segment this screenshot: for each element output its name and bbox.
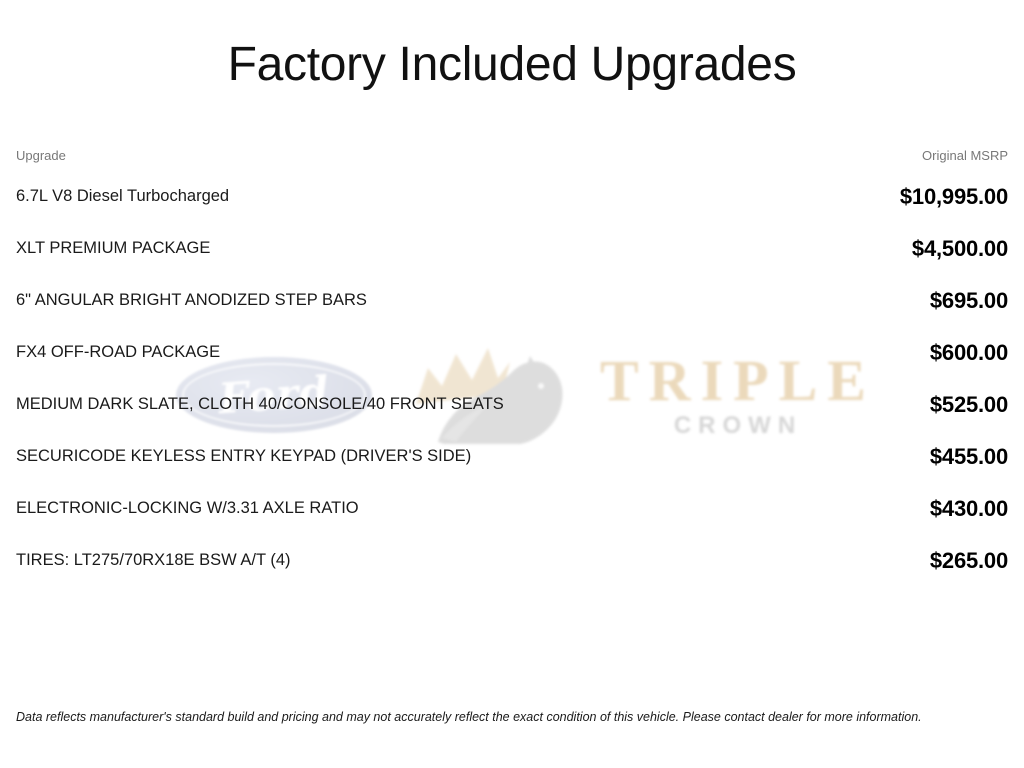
content-area: Factory Included Upgrades Upgrade Origin… (16, 0, 1008, 587)
table-row: ELECTRONIC-LOCKING W/3.31 AXLE RATIO $43… (16, 483, 1008, 535)
upgrade-price: $430.00 (631, 483, 1008, 535)
upgrade-price: $4,500.00 (631, 223, 1008, 275)
table-header: Upgrade Original MSRP (16, 148, 1008, 171)
table-row: FX4 OFF-ROAD PACKAGE $600.00 (16, 327, 1008, 379)
table-row: XLT PREMIUM PACKAGE $4,500.00 (16, 223, 1008, 275)
upgrade-name: 6.7L V8 Diesel Turbocharged (16, 171, 631, 223)
upgrade-name: SECURICODE KEYLESS ENTRY KEYPAD (DRIVER'… (16, 431, 631, 483)
column-header-msrp: Original MSRP (631, 148, 1008, 171)
upgrade-name: XLT PREMIUM PACKAGE (16, 223, 631, 275)
upgrade-price: $10,995.00 (631, 171, 1008, 223)
upgrade-price: $265.00 (631, 535, 1008, 587)
upgrade-name: MEDIUM DARK SLATE, CLOTH 40/CONSOLE/40 F… (16, 379, 631, 431)
upgrades-table: Upgrade Original MSRP 6.7L V8 Diesel Tur… (16, 148, 1008, 587)
table-row: 6.7L V8 Diesel Turbocharged $10,995.00 (16, 171, 1008, 223)
upgrade-name: 6" ANGULAR BRIGHT ANODIZED STEP BARS (16, 275, 631, 327)
table-row: MEDIUM DARK SLATE, CLOTH 40/CONSOLE/40 F… (16, 379, 1008, 431)
table-body: 6.7L V8 Diesel Turbocharged $10,995.00 X… (16, 171, 1008, 587)
upgrade-price: $455.00 (631, 431, 1008, 483)
disclaimer-text: Data reflects manufacturer's standard bu… (16, 710, 1008, 725)
upgrade-price: $600.00 (631, 327, 1008, 379)
table-row: TIRES: LT275/70RX18E BSW A/T (4) $265.00 (16, 535, 1008, 587)
factory-upgrades-page: Ford TRIPLE CROWN Factory Included Upgra… (0, 0, 1024, 768)
upgrade-price: $525.00 (631, 379, 1008, 431)
table-row: 6" ANGULAR BRIGHT ANODIZED STEP BARS $69… (16, 275, 1008, 327)
table-header-row: Upgrade Original MSRP (16, 148, 1008, 171)
column-header-upgrade: Upgrade (16, 148, 631, 171)
upgrade-name: TIRES: LT275/70RX18E BSW A/T (4) (16, 535, 631, 587)
table-row: SECURICODE KEYLESS ENTRY KEYPAD (DRIVER'… (16, 431, 1008, 483)
page-title: Factory Included Upgrades (16, 0, 1008, 92)
upgrade-price: $695.00 (631, 275, 1008, 327)
upgrade-name: ELECTRONIC-LOCKING W/3.31 AXLE RATIO (16, 483, 631, 535)
upgrade-name: FX4 OFF-ROAD PACKAGE (16, 327, 631, 379)
